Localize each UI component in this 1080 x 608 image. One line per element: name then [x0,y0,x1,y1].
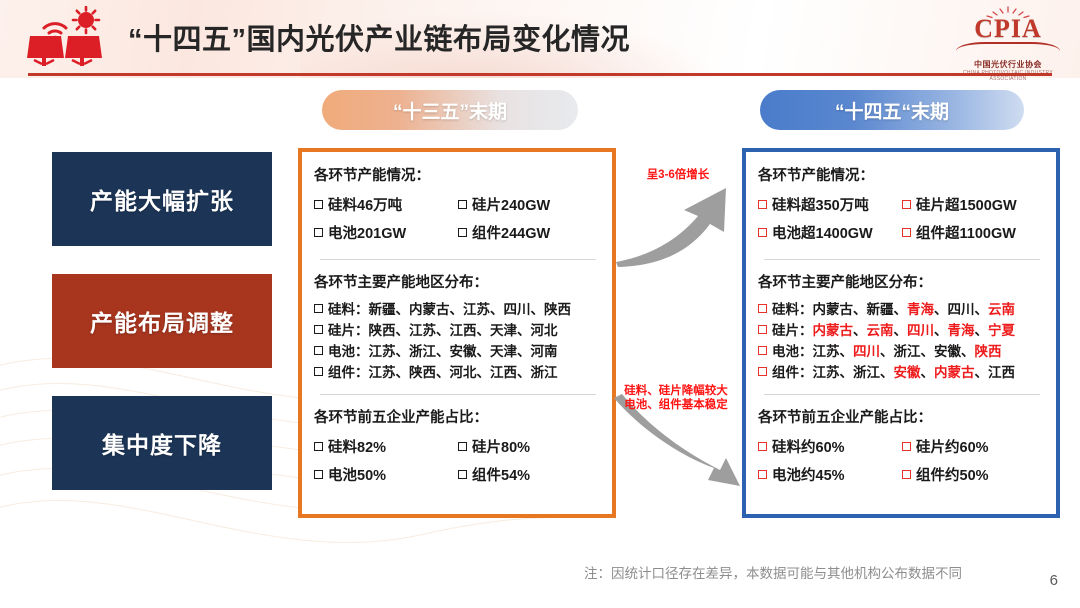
region-name: 四川 [948,302,975,317]
square-bullet-icon [458,470,467,479]
region-name: 江苏 [369,344,396,359]
left-regions-section: 各环节主要产能地区分布： 硅料：新疆、内蒙古、江苏、四川、陕西硅片：陕西、江苏、… [314,271,602,383]
list-item: 电池50% [314,462,458,490]
list-item: 硅片240GW [458,192,602,220]
region-name: 、江苏 [450,302,491,317]
list-item-label: 硅片80% [472,440,530,456]
list-item-label: 硅料82% [328,440,386,456]
list-item-label: 硅料约60% [772,440,845,456]
growth-arrow-up-icon [614,170,740,270]
right-capacity-section: 各环节产能情况： 硅料超350万吨 硅片超1500GW 电池超1400GW 组件… [758,164,1046,248]
list-item: 组件54% [458,462,602,490]
cpia-subtitle-en: CHINA PHOTOVOLTAIC INDUSTRY ASSOCIATION [952,70,1064,82]
square-bullet-icon [902,470,911,479]
region-name: 新疆 [369,302,396,317]
square-bullet-icon [314,470,323,479]
region-name: 、陕西 [396,365,437,380]
region-name: 青海 [907,302,934,317]
region-separator: 、 [840,344,854,359]
region-separator: 、 [880,344,894,359]
left-capacity-section: 各环节产能情况： 硅料46万吨 硅片240GW 电池201GW 组件244GW [314,164,602,248]
list-item-label: 电池约45% [772,468,845,484]
right-capacity-grid: 硅料超350万吨 硅片超1500GW 电池超1400GW 组件超1100GW [758,192,1046,248]
region-name: 江西 [988,365,1015,380]
region-separator: 、 [961,344,975,359]
region-separator: 、 [934,323,948,338]
square-bullet-icon [314,228,323,237]
region-separator: 、 [975,323,989,338]
region-name: 江苏 [369,365,396,380]
left-capacity-grid: 硅料46万吨 硅片240GW 电池201GW 组件244GW [314,192,602,248]
square-bullet-icon [758,442,767,451]
section-divider [320,259,596,260]
period-pill-right-label: “十四五“末期 [835,97,949,124]
square-bullet-icon [902,200,911,209]
region-separator: 、 [853,323,867,338]
list-item-label: 组件超1100GW [916,226,1016,242]
region-row: 电池：江苏、四川、浙江、安徽、陕西 [758,341,1046,362]
list-item: 硅料46万吨 [314,192,458,220]
region-name: 、河北 [517,323,558,338]
region-row-label: 硅片： [772,323,813,338]
panel-14th-five-year: 各环节产能情况： 硅料超350万吨 硅片超1500GW 电池超1400GW 组件… [742,148,1060,518]
region-name: 云南 [867,323,894,338]
region-row: 硅片：内蒙古、云南、四川、青海、宁夏 [758,320,1046,341]
list-item-label: 电池201GW [328,226,406,242]
annotation-decline-line2: 电池、组件基本稳定 [624,399,728,411]
square-bullet-icon [314,200,323,209]
square-bullet-icon [758,200,767,209]
right-top5-section: 各环节前五企业产能占比： 硅料约60% 硅片约60% 电池约45% 组件约50% [758,406,1046,490]
region-name: 宁夏 [988,323,1015,338]
section-title: 各环节主要产能地区分布： [758,271,1046,292]
list-item: 硅片80% [458,434,602,462]
section-title: 各环节主要产能地区分布： [314,271,602,292]
region-name: 、安徽 [436,344,477,359]
list-item: 电池约45% [758,462,902,490]
region-separator: 、 [853,302,867,317]
section-title: 各环节产能情况： [314,164,602,185]
region-separator: 、 [840,365,854,380]
square-bullet-icon [314,442,323,451]
theme-box-concentration-decline: 集中度下降 [52,396,272,490]
cpia-logo: CPIA 中国光伏行业协会 CHINA PHOTOVOLTAIC INDUSTR… [952,4,1064,72]
theme-box-capacity-expansion: 产能大幅扩张 [52,152,272,246]
region-name: 、浙江 [396,344,437,359]
list-item: 组件244GW [458,220,602,248]
cpia-arc [956,42,1060,60]
theme-box-layout-adjustment: 产能布局调整 [52,274,272,368]
theme-box-label: 产能大幅扩张 [90,182,234,216]
region-row: 硅料：新疆、内蒙古、江苏、四川、陕西 [314,299,602,320]
list-item-label: 硅片240GW [472,198,550,214]
annotation-decline-line1: 硅料、硅片降幅较大 [624,385,728,397]
period-pill-right: “十四五“末期 [760,90,1024,130]
left-top5-section: 各环节前五企业产能占比： 硅料82% 硅片80% 电池50% 组件54% [314,406,602,490]
list-item: 电池201GW [314,220,458,248]
region-row: 电池：江苏、浙江、安徽、天津、河南 [314,341,602,362]
region-name: 、江西 [477,365,518,380]
list-item-label: 电池超1400GW [772,226,873,242]
left-regions-list: 硅料：新疆、内蒙古、江苏、四川、陕西硅片：陕西、江苏、江西、天津、河北电池：江苏… [314,299,602,383]
list-item: 硅料82% [314,434,458,462]
square-bullet-icon [758,346,767,355]
region-name: 陕西 [975,344,1002,359]
region-name: 浙江 [894,344,921,359]
section-title: 各环节产能情况： [758,164,1046,185]
footnote: 注：因统计口径存在差异，本数据可能与其他机构公布数据不同 [584,562,962,582]
region-name: 云南 [988,302,1015,317]
list-item-label: 硅料46万吨 [328,198,402,214]
region-name: 青海 [948,323,975,338]
section-title: 各环节前五企业产能占比： [314,406,602,427]
section-title: 各环节前五企业产能占比： [758,406,1046,427]
list-item: 硅料约60% [758,434,902,462]
right-regions-section: 各环节主要产能地区分布： 硅料：内蒙古、新疆、青海、四川、云南硅片：内蒙古、云南… [758,271,1046,383]
region-separator: 、 [894,302,908,317]
right-top5-grid: 硅料约60% 硅片约60% 电池约45% 组件约50% [758,434,1046,490]
square-bullet-icon [314,304,323,313]
region-separator: 、 [921,344,935,359]
left-top5-grid: 硅料82% 硅片80% 电池50% 组件54% [314,434,602,490]
region-name: 、天津 [477,344,518,359]
section-divider [764,394,1040,395]
region-name: 安徽 [934,344,961,359]
list-item-label: 组件244GW [472,226,550,242]
panel-13th-five-year: 各环节产能情况： 硅料46万吨 硅片240GW 电池201GW 组件244GW … [298,148,616,518]
list-item: 组件约50% [902,462,1046,490]
list-item: 组件超1100GW [902,220,1046,248]
region-name: 内蒙古 [813,302,854,317]
region-name: 四川 [853,344,880,359]
period-pill-left-label: “十三五”末期 [393,97,507,124]
region-row: 硅料：内蒙古、新疆、青海、四川、云南 [758,299,1046,320]
region-name: 、内蒙古 [396,302,450,317]
region-name: 陕西 [369,323,396,338]
region-name: 、浙江 [517,365,558,380]
region-name: 、江西 [436,323,477,338]
square-bullet-icon [902,442,911,451]
region-name: 新疆 [867,302,894,317]
region-separator: 、 [975,365,989,380]
slide-header: “十四五”国内光伏产业链布局变化情况 CPIA 中国光伏行业协会 CHINA P… [0,0,1080,78]
square-bullet-icon [758,325,767,334]
region-name: 四川 [907,323,934,338]
square-bullet-icon [758,304,767,313]
region-name: 江苏 [813,365,840,380]
page-title: “十四五”国内光伏产业链布局变化情况 [128,16,768,58]
region-name: 、江苏 [396,323,437,338]
theme-box-label: 集中度下降 [102,426,222,460]
square-bullet-icon [758,470,767,479]
annotation-decline: 硅料、硅片降幅较大 电池、组件基本稳定 [606,384,746,412]
period-pill-left: “十三五”末期 [322,90,578,130]
region-separator: 、 [921,365,935,380]
section-divider [764,259,1040,260]
square-bullet-icon [458,442,467,451]
list-item-label: 组件约50% [916,468,989,484]
list-item-label: 组件54% [472,468,530,484]
region-row-label: 硅料： [328,302,369,317]
page-number: 6 [1050,572,1058,589]
region-name: 、天津 [477,323,518,338]
annotation-growth: 呈3-6倍增长 [622,168,734,182]
region-name: 江苏 [813,344,840,359]
list-item: 硅片超1500GW [902,192,1046,220]
region-name: 、陕西 [531,302,572,317]
theme-box-label: 产能布局调整 [90,304,234,338]
square-bullet-icon [758,228,767,237]
region-separator: 、 [894,323,908,338]
solar-panel-logo-icon [18,6,114,68]
region-row: 硅片：陕西、江苏、江西、天津、河北 [314,320,602,341]
slide-root: “十四五”国内光伏产业链布局变化情况 CPIA 中国光伏行业协会 CHINA P… [0,0,1080,608]
region-name: 浙江 [853,365,880,380]
list-item-label: 硅片超1500GW [916,198,1017,214]
square-bullet-icon [758,367,767,376]
square-bullet-icon [458,228,467,237]
cpia-subtitle-cn: 中国光伏行业协会 [952,59,1064,70]
square-bullet-icon [314,325,323,334]
region-row-label: 组件： [772,365,813,380]
square-bullet-icon [314,367,323,376]
region-row-label: 组件： [328,365,369,380]
section-divider [320,394,596,395]
list-item-label: 硅料超350万吨 [772,198,869,214]
region-row: 组件：江苏、浙江、安徽、内蒙古、江西 [758,362,1046,383]
list-item: 电池超1400GW [758,220,902,248]
list-item-label: 电池50% [328,468,386,484]
region-separator: 、 [880,365,894,380]
region-separator: 、 [975,302,989,317]
region-row-label: 电池： [772,344,813,359]
region-name: 内蒙古 [813,323,854,338]
region-row-label: 硅料： [772,302,813,317]
header-divider [28,73,1052,76]
region-row-label: 硅片： [328,323,369,338]
square-bullet-icon [458,200,467,209]
region-row-label: 电池： [328,344,369,359]
region-row: 组件：江苏、陕西、河北、江西、浙江 [314,362,602,383]
region-name: 、河南 [517,344,558,359]
region-separator: 、 [934,302,948,317]
square-bullet-icon [902,228,911,237]
sun-rays-icon [981,6,1035,20]
list-item: 硅料超350万吨 [758,192,902,220]
region-name: 、四川 [490,302,531,317]
right-regions-list: 硅料：内蒙古、新疆、青海、四川、云南硅片：内蒙古、云南、四川、青海、宁夏电池：江… [758,299,1046,383]
list-item-label: 硅片约60% [916,440,989,456]
region-name: 安徽 [894,365,921,380]
region-name: 、河北 [436,365,477,380]
region-name: 内蒙古 [934,365,975,380]
square-bullet-icon [314,346,323,355]
list-item: 硅片约60% [902,434,1046,462]
